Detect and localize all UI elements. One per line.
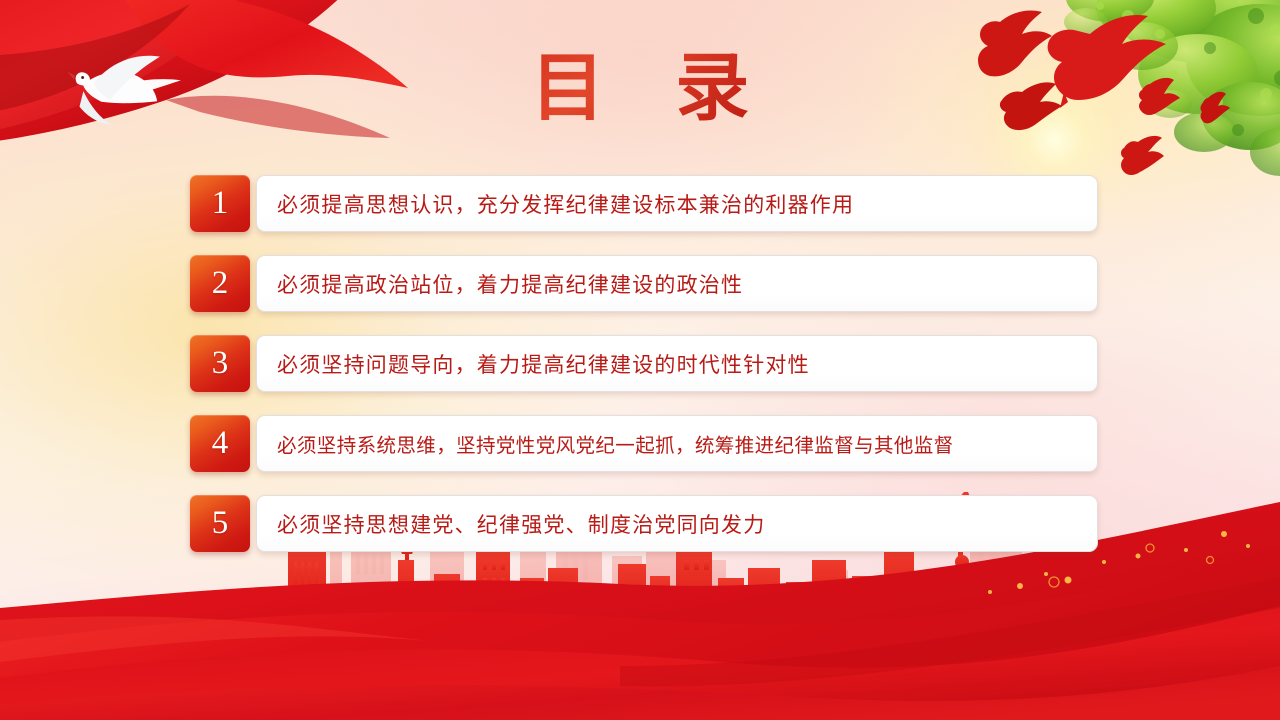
list-item[interactable]: 1 必须提高思想认识，充分发挥纪律建设标本兼治的利器作用 [190,175,1098,232]
presentation-slide: 目 录 1 必须提高思想认识，充分发挥纪律建设标本兼治的利器作用 2 必须提高政… [0,0,1280,720]
list-item[interactable]: 4 必须坚持系统思维，坚持党性党风党纪一起抓，统筹推进纪律监督与其他监督 [190,415,1098,472]
list-item[interactable]: 3 必须坚持问题导向，着力提高纪律建设的时代性针对性 [190,335,1098,392]
item-label: 必须坚持问题导向，着力提高纪律建设的时代性针对性 [277,349,810,379]
item-text-bar[interactable]: 必须提高思想认识，充分发挥纪律建设标本兼治的利器作用 [256,175,1098,232]
page-title: 目 录 [0,52,1280,126]
item-number-badge: 5 [190,495,250,552]
item-text-bar[interactable]: 必须提高政治站位，着力提高纪律建设的政治性 [256,255,1098,312]
item-label: 必须坚持系统思维，坚持党性党风党纪一起抓，统筹推进纪律监督与其他监督 [277,429,954,458]
list-item[interactable]: 2 必须提高政治站位，着力提高纪律建设的政治性 [190,255,1098,312]
item-label: 必须提高政治站位，着力提高纪律建设的政治性 [277,269,743,299]
item-label: 必须提高思想认识，充分发挥纪律建设标本兼治的利器作用 [277,189,854,219]
item-text-bar[interactable]: 必须坚持思想建党、纪律强党、制度治党同向发力 [256,495,1098,552]
table-of-contents: 1 必须提高思想认识，充分发挥纪律建设标本兼治的利器作用 2 必须提高政治站位，… [190,175,1098,552]
list-item[interactable]: 5 必须坚持思想建党、纪律强党、制度治党同向发力 [190,495,1098,552]
item-number-badge: 2 [190,255,250,312]
item-text-bar[interactable]: 必须坚持系统思维，坚持党性党风党纪一起抓，统筹推进纪律监督与其他监督 [256,415,1098,472]
item-label: 必须坚持思想建党、纪律强党、制度治党同向发力 [277,509,765,539]
red-dove-icon-small-4 [1121,136,1164,175]
item-number-badge: 3 [190,335,250,392]
item-text-bar[interactable]: 必须坚持问题导向，着力提高纪律建设的时代性针对性 [256,335,1098,392]
item-number-badge: 4 [190,415,250,472]
item-number-badge: 1 [190,175,250,232]
